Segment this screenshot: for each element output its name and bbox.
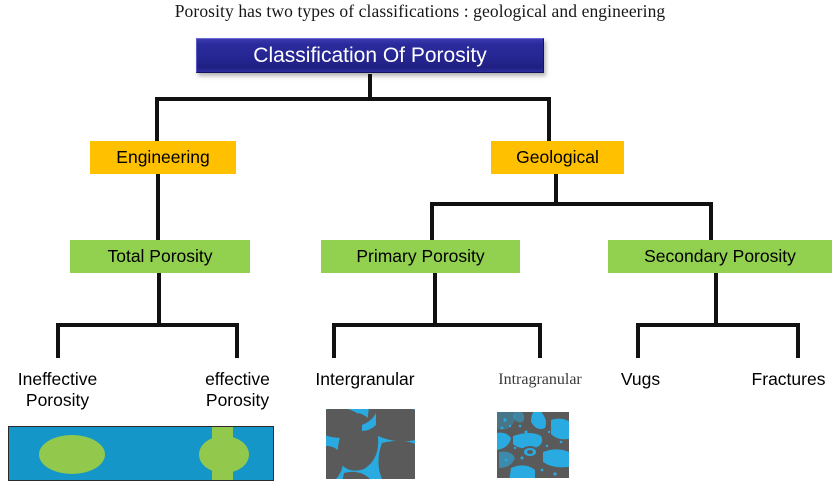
connector-total-bar: [56, 323, 239, 327]
node-geological[interactable]: Geological: [491, 141, 624, 174]
leaf-intergranular[interactable]: Intergranular: [295, 369, 435, 390]
connector-root-bar: [155, 97, 551, 101]
leaf-label: Intragranular: [470, 371, 610, 390]
connector-primary-stem: [433, 273, 437, 326]
rock-pore-diagram: [8, 426, 274, 481]
leaf-label-line1: effective: [180, 369, 295, 390]
porosity-classification-diagram: Porosity has two types of classification…: [0, 0, 840, 488]
connector-secondary-stem: [714, 273, 718, 326]
intergranular-micrograph: [326, 409, 415, 479]
connector-total-stem: [157, 273, 161, 326]
leaf-label-line1: Ineffective: [0, 369, 115, 390]
connected-pore-shape: [199, 436, 249, 473]
connector-to-intergranular: [332, 323, 336, 358]
intragranular-micrograph-image: [497, 412, 569, 478]
leaf-label: Intergranular: [295, 369, 435, 390]
node-total-porosity[interactable]: Total Porosity: [70, 240, 250, 273]
leaf-effective-porosity[interactable]: effective Porosity: [180, 369, 295, 410]
node-classification-of-porosity[interactable]: Classification Of Porosity: [196, 38, 544, 73]
connector-to-geological: [547, 97, 551, 141]
node-label: Geological: [516, 149, 599, 167]
leaf-fractures[interactable]: Fractures: [737, 369, 840, 390]
connector-to-intragranular: [538, 323, 542, 358]
node-label: Total Porosity: [107, 248, 212, 266]
connector-geological-stem: [554, 174, 558, 205]
node-label: Secondary Porosity: [644, 248, 796, 266]
leaf-vugs[interactable]: Vugs: [598, 369, 683, 390]
leaf-label-line2: Porosity: [180, 390, 295, 411]
isolated-pore-shape: [39, 435, 105, 474]
connector-engineering-to-total: [156, 174, 160, 240]
node-secondary-porosity[interactable]: Secondary Porosity: [608, 240, 832, 273]
connector-to-vugs: [636, 323, 640, 358]
connector-to-fractures: [796, 323, 800, 358]
node-primary-porosity[interactable]: Primary Porosity: [321, 240, 520, 273]
connector-primary-bar: [332, 323, 542, 327]
leaf-label: Vugs: [598, 369, 683, 390]
connector-geological-bar: [430, 202, 713, 206]
node-label: Classification Of Porosity: [253, 45, 486, 66]
leaf-ineffective-porosity[interactable]: Ineffective Porosity: [0, 369, 115, 410]
page-title: Porosity has two types of classification…: [0, 1, 840, 22]
connector-to-ineffective: [56, 323, 60, 358]
leaf-label: Fractures: [737, 369, 840, 390]
intergranular-micrograph-image: [326, 409, 415, 479]
connector-to-engineering: [155, 97, 159, 141]
leaf-label-line2: Porosity: [0, 390, 115, 411]
connector-to-effective: [235, 323, 239, 358]
connector-to-primary-porosity: [430, 202, 434, 240]
node-label: Engineering: [116, 149, 209, 167]
leaf-intragranular[interactable]: Intragranular: [470, 371, 610, 390]
node-engineering[interactable]: Engineering: [90, 141, 236, 174]
node-label: Primary Porosity: [356, 248, 484, 266]
intragranular-micrograph: [497, 412, 569, 478]
connector-to-secondary-porosity: [709, 202, 713, 240]
connector-secondary-bar: [636, 323, 800, 327]
